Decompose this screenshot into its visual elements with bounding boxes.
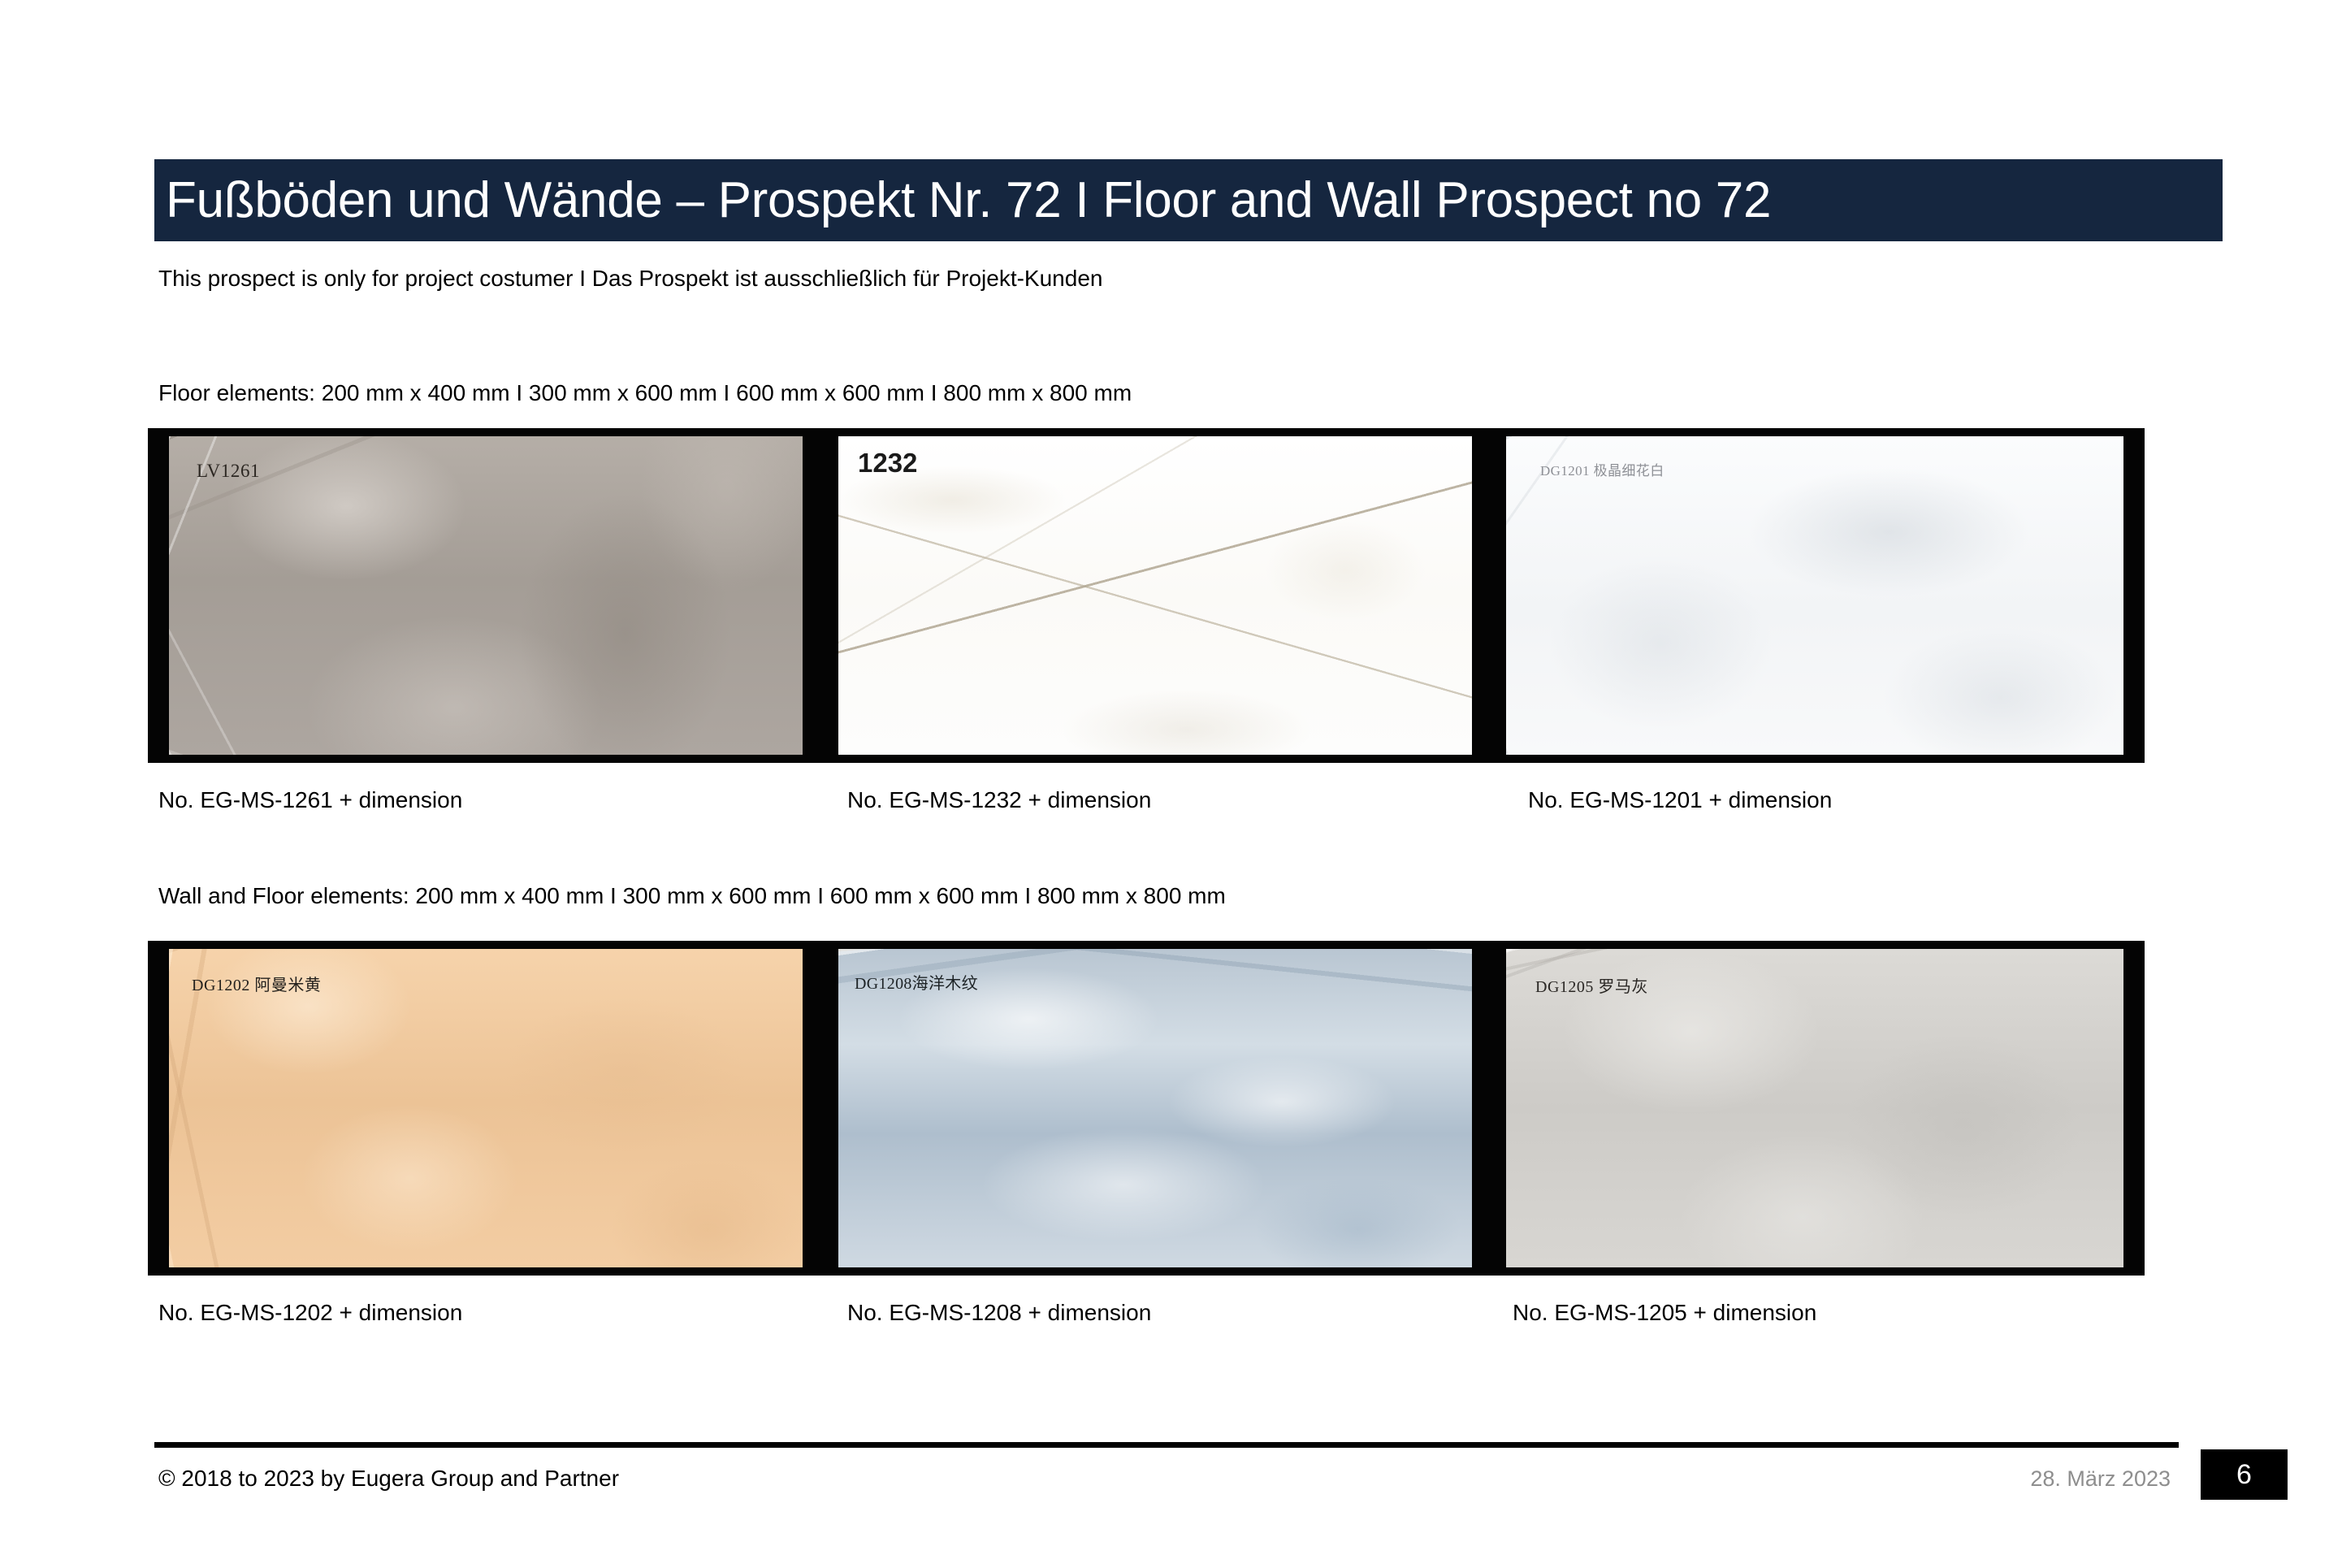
tile-caption-1205: No. EG-MS-1205 + dimension [1513,1300,1816,1326]
footer-divider [154,1442,2179,1448]
slide-canvas: Fußböden und Wände – Prospekt Nr. 72 I F… [0,0,2329,1568]
tile-caption-1261: No. EG-MS-1261 + dimension [158,787,462,813]
footer-copyright: © 2018 to 2023 by Eugera Group and Partn… [158,1466,619,1492]
marble-texture-light-grey [1506,436,2123,755]
tile-caption-1202: No. EG-MS-1202 + dimension [158,1300,462,1326]
slide-subtitle: This prospect is only for project costum… [158,266,1102,292]
page-number: 6 [2236,1461,2252,1488]
tile-caption-1201: No. EG-MS-1201 + dimension [1528,787,1832,813]
section-label-floor-elements: Floor elements: 200 mm x 400 mm I 300 mm… [158,380,1132,406]
tile-band-row-2: DG1202 阿曼米黄 DG1208海洋木纹 DG1205 罗马灰 [148,941,2145,1276]
tile-caption-1232: No. EG-MS-1232 + dimension [847,787,1151,813]
tile-thumbnail-1232[interactable]: 1232 [838,436,1472,755]
page-title: Fußböden und Wände – Prospekt Nr. 72 I F… [154,175,1771,226]
tile-thumbnail-1261[interactable]: LV1261 [169,436,803,755]
marble-texture-grey-fabric [1506,949,2123,1267]
tile-thumbnail-1201[interactable]: DG1201 极晶细花白 [1506,436,2123,755]
tile-thumbnail-1205[interactable]: DG1205 罗马灰 [1506,949,2123,1267]
page-number-badge: 6 [2201,1449,2288,1500]
tile-thumbnail-1208[interactable]: DG1208海洋木纹 [838,949,1472,1267]
marble-texture-grey [169,436,803,755]
tile-band-row-1: LV1261 1232 DG1201 极晶细花白 [148,428,2145,763]
marble-texture-beige [169,949,803,1267]
slide-title-bar: Fußböden und Wände – Prospekt Nr. 72 I F… [154,159,2223,241]
tile-thumbnail-1202[interactable]: DG1202 阿曼米黄 [169,949,803,1267]
marble-texture-blue-grey [838,949,1472,1267]
marble-texture-white [838,436,1472,755]
footer-date: 28. März 2023 [2030,1466,2171,1492]
section-label-wall-and-floor-elements: Wall and Floor elements: 200 mm x 400 mm… [158,883,1226,909]
tile-caption-1208: No. EG-MS-1208 + dimension [847,1300,1151,1326]
